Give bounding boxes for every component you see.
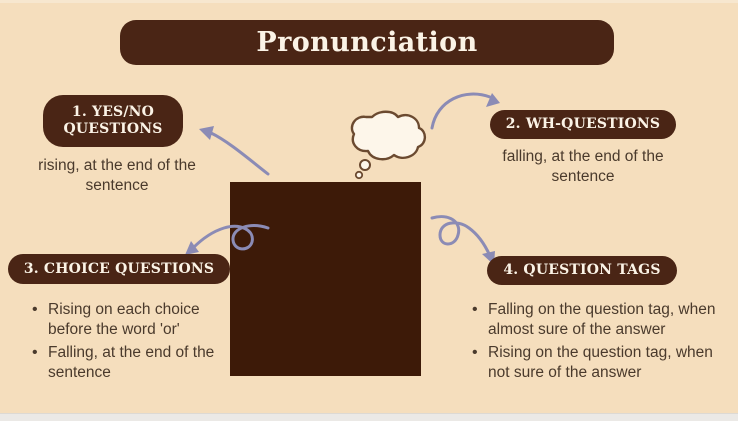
arrow-to-question-tags-icon: [432, 217, 495, 265]
section-label-line1: 1. YES/NO: [72, 104, 154, 120]
list-item: Falling, at the end of the sentence: [30, 343, 240, 384]
list-item: Rising on the question tag, when not sur…: [470, 343, 720, 384]
section-body-choice-questions: Rising on each choice before the word 'o…: [30, 300, 240, 386]
slide-canvas: Pronunciation 1. YES/NO QUESTIONS rising…: [0, 0, 738, 421]
top-edge-strip: [0, 0, 738, 3]
bullet-list: Falling on the question tag, when almost…: [470, 300, 720, 384]
section-label-text: 2. WH-QUESTIONS: [506, 116, 661, 133]
thought-cloud-icon: [352, 112, 425, 178]
center-image-block: [230, 182, 421, 376]
section-label-question-tags: 4. QUESTION TAGS: [487, 256, 677, 285]
section-body-question-tags: Falling on the question tag, when almost…: [470, 300, 720, 386]
section-body-yes-no: rising, at the end of the sentence: [22, 156, 212, 197]
list-item: Falling on the question tag, when almost…: [470, 300, 720, 341]
section-label-text: 3. CHOICE QUESTIONS: [24, 261, 214, 278]
section-label-text: 4. QUESTION TAGS: [503, 262, 660, 279]
section-body-wh-questions: falling, at the end of the sentence: [485, 147, 681, 188]
section-label-yes-no: 1. YES/NO QUESTIONS: [43, 95, 183, 147]
page-title: Pronunciation: [256, 29, 477, 56]
title-banner: Pronunciation: [120, 20, 614, 65]
section-label-line2: QUESTIONS: [63, 121, 162, 137]
bottom-edge-strip: [0, 413, 738, 421]
section-label-choice-questions: 3. CHOICE QUESTIONS: [8, 254, 230, 284]
bullet-list: Rising on each choice before the word 'o…: [30, 300, 240, 384]
section-label-wh-questions: 2. WH-QUESTIONS: [490, 110, 676, 139]
section-label-text: 1. YES/NO QUESTIONS: [63, 104, 162, 137]
list-item: Rising on each choice before the word 'o…: [30, 300, 240, 341]
